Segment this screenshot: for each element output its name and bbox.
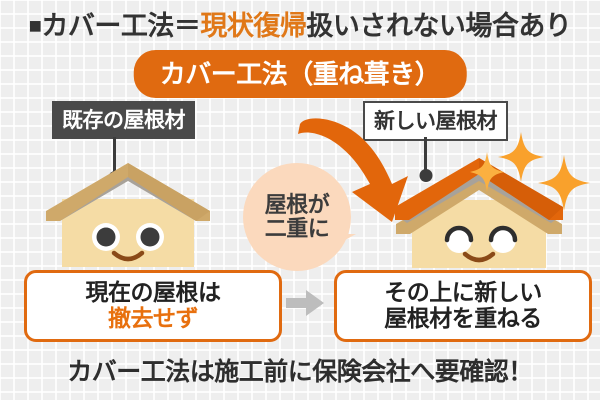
center-callout-circle: 屋根が 二重に — [243, 163, 351, 271]
bottom-left-line-1: 現在の屋根は — [86, 280, 221, 306]
center-line-1: 屋根が — [265, 193, 330, 217]
bottom-box-left: 現在の屋根は 撤去せず — [24, 270, 282, 342]
infographic-canvas: ■カバー工法＝現状復帰扱いされない場合あり カバー工法（重ね葺き） 既存の屋根材… — [0, 0, 600, 400]
method-title-pill: カバー工法（重ね葺き） — [134, 50, 467, 98]
label-existing-roof: 既存の屋根材 — [52, 101, 195, 139]
bottom-right-line-2: 屋根材を重ねる — [384, 306, 542, 332]
sparkle-icon — [470, 152, 504, 197]
center-callout-text: 屋根が 二重に — [265, 193, 330, 241]
bullet-square-icon: ■ — [29, 13, 42, 38]
header-text-before: カバー工法＝ — [41, 11, 200, 41]
header-highlight: 現状復帰 — [200, 11, 306, 41]
bottom-right-line-1: その上に新しい — [384, 280, 542, 306]
footer-note: カバー工法は施工前に保険会社へ要確認！ — [0, 352, 600, 388]
bottom-left-line-2: 撤去せず — [86, 306, 221, 332]
header-text-after: 扱いされない場合あり — [306, 11, 571, 41]
right-arrow-icon — [286, 288, 326, 318]
house-left-svg — [10, 155, 240, 267]
house-existing-roof-icon — [10, 155, 240, 267]
center-line-2: 二重に — [265, 217, 330, 241]
bottom-box-right: その上に新しい 屋根材を重ねる — [334, 270, 592, 342]
sparkle-icon — [538, 155, 590, 216]
header-line: ■カバー工法＝現状復帰扱いされない場合あり — [0, 4, 600, 43]
center-callout-tail — [336, 234, 356, 247]
